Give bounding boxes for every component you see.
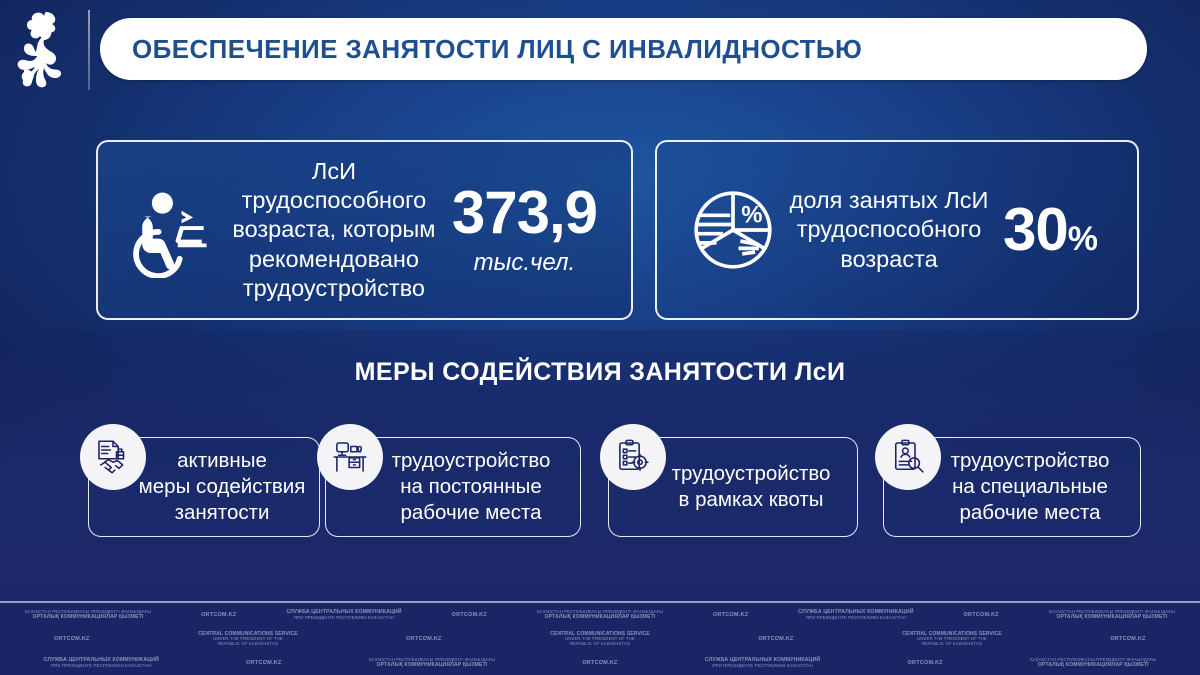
snow-leopard-emblem-icon: [12, 8, 74, 90]
pie-chart-percent-icon: %: [687, 184, 779, 276]
watermark-en: CENTRAL COMMUNICATIONS SERVICE UNDER THE…: [902, 632, 1002, 647]
watermark-ru: СЛУЖБА ЦЕНТРАЛЬНЫХ КОММУНИКАЦИЙ ПРИ ПРЕЗ…: [286, 610, 401, 621]
watermark-domain: ORTCOM.KZ: [246, 660, 281, 666]
watermark-kk: ҚАЗАҚСТАН РЕСПУБЛИКАСЫ ПРЕЗИДЕНТІ ЖАНЫНД…: [25, 610, 151, 621]
footer-watermark-band: ҚАЗАҚСТАН РЕСПУБЛИКАСЫ ПРЕЗИДЕНТІ ЖАНЫНД…: [0, 601, 1200, 675]
section-heading-measures: МЕРЫ СОДЕЙСТВИЯ ЗАНЯТОСТИ ЛсИ: [0, 358, 1200, 387]
watermark-domain: ORTCOM.KZ: [452, 612, 487, 618]
stat-card-employed-share: % доля занятых ЛсИ трудоспособного возра…: [655, 140, 1139, 320]
watermark-domain: ORTCOM.KZ: [1110, 636, 1145, 642]
wheelchair-worker-icon: [124, 182, 220, 278]
watermark-ru-line2: ПРИ ПРЕЗИДЕНТЕ РЕСПУБЛИКИ КАЗАХСТАН: [705, 664, 820, 669]
watermark-kk: ҚАЗАҚСТАН РЕСПУБЛИКАСЫ ПРЕЗИДЕНТІ ЖАНЫНД…: [537, 610, 663, 621]
watermark-domain: ORTCOM.KZ: [201, 612, 236, 618]
stat-value-group-2: 30%: [999, 200, 1137, 260]
document-handshake-icon: [80, 424, 146, 490]
measure-item-permanent-jobs[interactable]: трудоустройствона постоянныерабочие мест…: [325, 437, 581, 537]
watermark-domain: ORTCOM.KZ: [582, 660, 617, 666]
page-title-pill: ОБЕСПЕЧЕНИЕ ЗАНЯТОСТИ ЛИЦ С ИНВАЛИДНОСТЬ…: [100, 18, 1147, 80]
watermark-en-line3: REPUBLIC OF KAZAKHSTAN: [198, 642, 298, 647]
watermark-row: СЛУЖБА ЦЕНТРАЛЬНЫХ КОММУНИКАЦИЙ ПРИ ПРЕЗ…: [0, 651, 1200, 675]
watermark-ru: СЛУЖБА ЦЕНТРАЛЬНЫХ КОММУНИКАЦИЙ ПРИ ПРЕЗ…: [798, 610, 913, 621]
resume-magnifier-icon: [875, 424, 941, 490]
office-desk-icon: [317, 424, 383, 490]
watermark-en-line3: REPUBLIC OF KAZAKHSTAN: [550, 642, 650, 647]
watermark-row: ORTCOM.KZ CENTRAL COMMUNICATIONS SERVICE…: [0, 627, 1200, 651]
watermark-domain: ORTCOM.KZ: [54, 636, 89, 642]
stat-card-employable-recommended: ЛсИ трудоспособного возраста, которым ре…: [96, 140, 633, 320]
watermark-domain: ORTCOM.KZ: [908, 660, 943, 666]
watermark-kk-line2: ОРТАЛЫҚ КОММУНИКАЦИЯЛАР ҚЫЗМЕТІ: [369, 663, 495, 669]
watermark-ru-line2: ПРИ ПРЕЗИДЕНТЕ РЕСПУБЛИКИ КАЗАХСТАН: [44, 664, 159, 669]
svg-text:%: %: [741, 202, 762, 229]
watermark-domain: ORTCOM.KZ: [964, 612, 999, 618]
stat-value-2-number: 30: [1003, 196, 1068, 263]
watermark-en: CENTRAL COMMUNICATIONS SERVICE UNDER THE…: [198, 632, 298, 647]
watermark-domain: ORTCOM.KZ: [713, 612, 748, 618]
watermark-ru: СЛУЖБА ЦЕНТРАЛЬНЫХ КОММУНИКАЦИЙ ПРИ ПРЕЗ…: [705, 658, 820, 669]
slide-root: ОБЕСПЕЧЕНИЕ ЗАНЯТОСТИ ЛИЦ С ИНВАЛИДНОСТЬ…: [0, 0, 1200, 675]
slide-header: ОБЕСПЕЧЕНИЕ ЗАНЯТОСТИ ЛИЦ С ИНВАЛИДНОСТЬ…: [0, 0, 1200, 100]
stat-value-group-1: 373,9 тыс.чел.: [448, 183, 631, 277]
watermark-en-line3: REPUBLIC OF KAZAKHSTAN: [902, 642, 1002, 647]
stat-label-1: ЛсИ трудоспособного возраста, которым ре…: [220, 157, 448, 303]
watermark-domain: ORTCOM.KZ: [406, 636, 441, 642]
clipboard-target-icon: [600, 424, 666, 490]
measure-item-special-jobs[interactable]: трудоустройствона специальныерабочие мес…: [883, 437, 1141, 537]
stat-value-2: 30%: [1003, 200, 1097, 260]
watermark-kk-line2: ОРТАЛЫҚ КОММУНИКАЦИЯЛАР ҚЫЗМЕТІ: [537, 615, 663, 621]
page-title: ОБЕСПЕЧЕНИЕ ЗАНЯТОСТИ ЛИЦ С ИНВАЛИДНОСТЬ…: [132, 34, 862, 65]
stat-unit-1: тыс.чел.: [452, 249, 597, 277]
watermark-kk-line2: ОРТАЛЫҚ КОММУНИКАЦИЯЛАР ҚЫЗМЕТІ: [1049, 615, 1175, 621]
watermark-ru-line2: ПРИ ПРЕЗИДЕНТЕ РЕСПУБЛИКИ КАЗАХСТАН: [286, 616, 401, 621]
watermark-kk: ҚАЗАҚСТАН РЕСПУБЛИКАСЫ ПРЕЗИДЕНТІ ЖАНЫНД…: [1049, 610, 1175, 621]
stat-percent-sign: %: [1068, 220, 1097, 258]
watermark-ru-line2: ПРИ ПРЕЗИДЕНТЕ РЕСПУБЛИКИ КАЗАХСТАН: [798, 616, 913, 621]
watermark-ru: СЛУЖБА ЦЕНТРАЛЬНЫХ КОММУНИКАЦИЙ ПРИ ПРЕЗ…: [44, 658, 159, 669]
measure-item-quota-jobs[interactable]: трудоустройствов рамках квоты: [608, 437, 858, 537]
watermark-domain: ORTCOM.KZ: [758, 636, 793, 642]
measure-item-active-employment-support[interactable]: активныемеры содействиязанятости: [88, 437, 320, 537]
watermark-kk: ҚАЗАҚСТАН РЕСПУБЛИКАСЫ ПРЕЗИДЕНТІ ЖАНЫНД…: [1030, 658, 1156, 669]
watermark-row: ҚАЗАҚСТАН РЕСПУБЛИКАСЫ ПРЕЗИДЕНТІ ЖАНЫНД…: [0, 603, 1200, 627]
watermark-kk-line2: ОРТАЛЫҚ КОММУНИКАЦИЯЛАР ҚЫЗМЕТІ: [1030, 663, 1156, 669]
watermark-kk: ҚАЗАҚСТАН РЕСПУБЛИКАСЫ ПРЕЗИДЕНТІ ЖАНЫНД…: [369, 658, 495, 669]
watermark-en: CENTRAL COMMUNICATIONS SERVICE UNDER THE…: [550, 632, 650, 647]
watermark-kk-line2: ОРТАЛЫҚ КОММУНИКАЦИЯЛАР ҚЫЗМЕТІ: [25, 615, 151, 621]
stat-label-2: доля занятых ЛсИ трудоспособного возраст…: [779, 186, 999, 273]
stat-value-1: 373,9: [452, 183, 597, 243]
header-divider: [88, 10, 90, 90]
